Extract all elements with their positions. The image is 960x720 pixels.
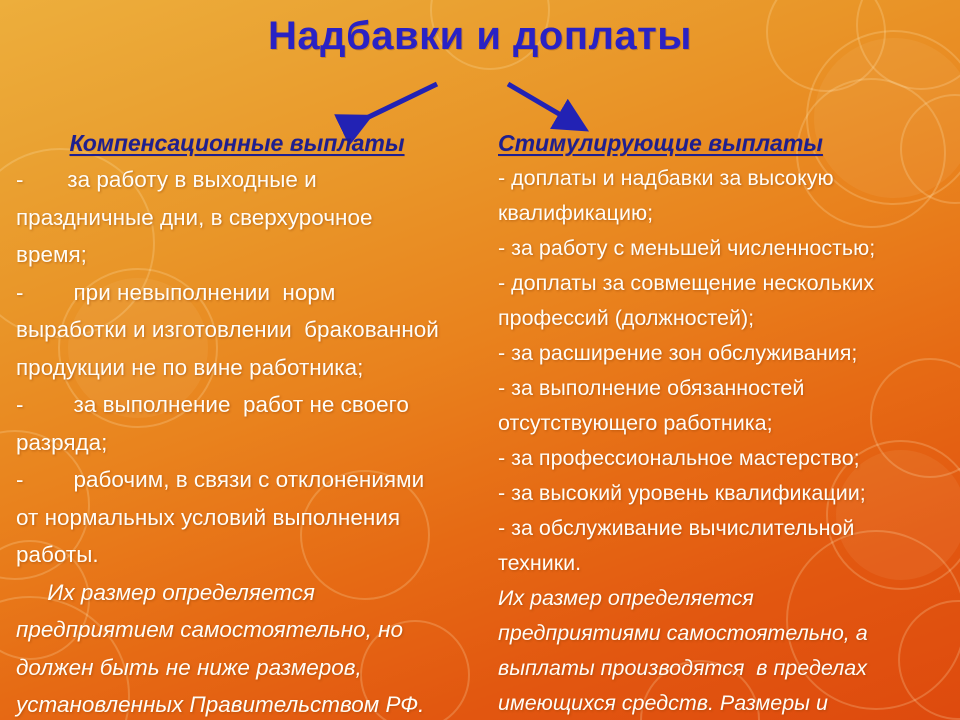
text-line: продукции не по вине работника; bbox=[8, 349, 478, 387]
text-line: предприятиями самостоятельно, а bbox=[492, 616, 958, 651]
text-line: - доплаты за совмещение нескольких bbox=[492, 266, 958, 301]
left-column-heading: Компенсационные выплаты bbox=[8, 130, 478, 157]
arrow-to-left-column bbox=[348, 84, 437, 127]
text-line: - за работу с меньшей численностью; bbox=[492, 231, 958, 266]
slide-title: Надбавки и доплаты bbox=[0, 14, 960, 59]
text-line: - за работу в выходные и bbox=[8, 161, 478, 199]
text-line: имеющихся средств. Размеры и bbox=[492, 686, 958, 720]
text-line: должен быть не ниже размеров, bbox=[8, 649, 478, 687]
text-line: установленных Правительством РФ. bbox=[8, 686, 478, 720]
text-line: - за выполнение работ не своего bbox=[8, 386, 478, 424]
presentation-slide: Надбавки и доплаты Компенсационные выпла… bbox=[0, 0, 960, 720]
right-column-heading: Стимулирующие выплаты bbox=[492, 130, 958, 157]
text-line: - за обслуживание вычислительной bbox=[492, 511, 958, 546]
text-line: - рабочим, в связи с отклонениями bbox=[8, 461, 478, 499]
text-line: - доплаты и надбавки за высокую bbox=[492, 161, 958, 196]
text-line: предприятием самостоятельно, но bbox=[8, 611, 478, 649]
text-line: выплаты производятся в пределах bbox=[492, 651, 958, 686]
right-column-body: - доплаты и надбавки за высокуюквалифика… bbox=[492, 161, 958, 720]
text-line: техники. bbox=[492, 546, 958, 581]
text-line: - за высокий уровень квалификации; bbox=[492, 476, 958, 511]
text-line: выработки и изготовлении бракованной bbox=[8, 311, 478, 349]
text-line: время; bbox=[8, 236, 478, 274]
text-line: работы. bbox=[8, 536, 478, 574]
text-line: разряда; bbox=[8, 424, 478, 462]
text-line: - при невыполнении норм bbox=[8, 274, 478, 312]
text-line: квалификацию; bbox=[492, 196, 958, 231]
text-line: профессий (должностей); bbox=[492, 301, 958, 336]
text-line: - за расширение зон обслуживания; bbox=[492, 336, 958, 371]
text-line: - за выполнение обязанностей bbox=[492, 371, 958, 406]
arrow-to-right-column bbox=[508, 84, 583, 128]
text-line: отсутствующего работника; bbox=[492, 406, 958, 441]
text-line: - за профессиональное мастерство; bbox=[492, 441, 958, 476]
text-line: Их размер определяется bbox=[492, 581, 958, 616]
text-line: Их размер определяется bbox=[8, 574, 478, 612]
text-line: от нормальных условий выполнения bbox=[8, 499, 478, 537]
compensation-payments-column: Компенсационные выплаты - за работу в вы… bbox=[8, 130, 478, 720]
stimulating-payments-column: Стимулирующие выплаты - доплаты и надбав… bbox=[492, 130, 958, 720]
text-line: праздничные дни, в сверхурочное bbox=[8, 199, 478, 237]
left-column-body: - за работу в выходные ипраздничные дни,… bbox=[8, 161, 478, 720]
